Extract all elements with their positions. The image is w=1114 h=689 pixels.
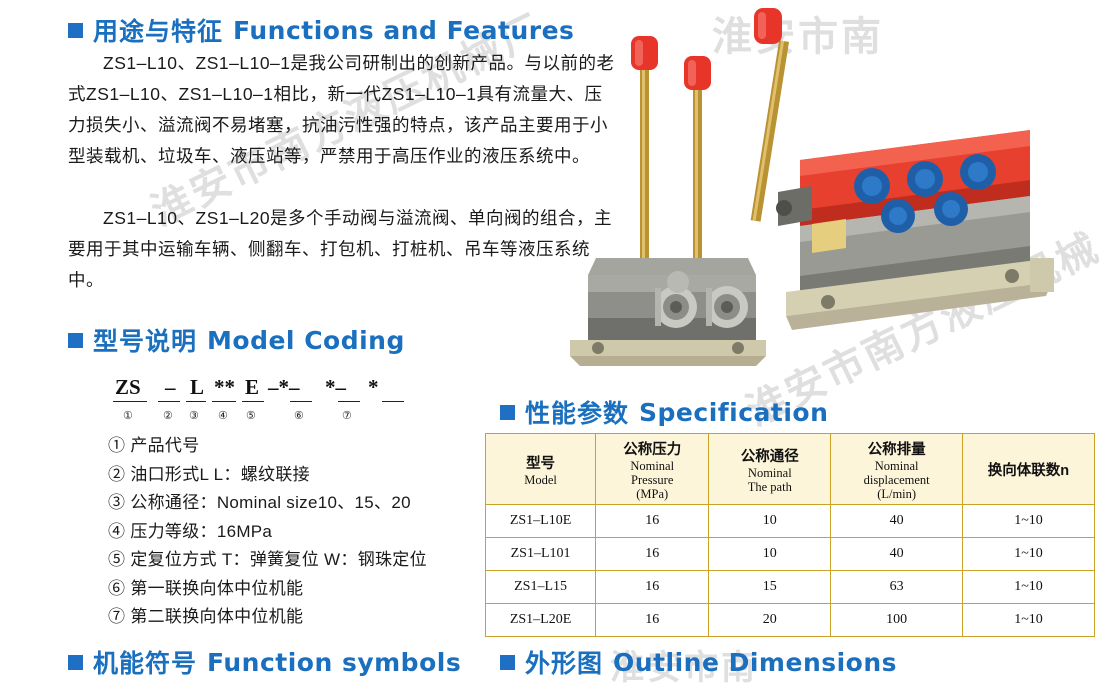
cell-pressure: 16 xyxy=(596,571,709,604)
cell-displacement: 100 xyxy=(831,604,963,637)
bullet-square-icon xyxy=(500,655,515,670)
valve-block-right xyxy=(751,8,1054,330)
table-row: ZS1–L10E 16 10 40 1~10 xyxy=(486,505,1095,538)
cell-path: 10 xyxy=(709,505,831,538)
coding-token-4: ** xyxy=(214,375,235,400)
bullet-square-icon xyxy=(68,655,83,670)
model-coding-indices: ① ② ③ ④ ⑤ ⑥ ⑦ xyxy=(110,405,490,421)
section-heading-outline: 外形图 Outline Dimensions xyxy=(500,644,897,680)
coding-index-6: ⑥ xyxy=(294,409,304,422)
coding-underline-7 xyxy=(338,401,360,402)
cell-sections: 1~10 xyxy=(962,538,1094,571)
coding-token-7: *– xyxy=(325,375,346,400)
section-function-symbols-en: Function symbols xyxy=(207,648,461,677)
table-row: ZS1–L20E 16 20 100 1~10 xyxy=(486,604,1095,637)
cell-sections: 1~10 xyxy=(962,571,1094,604)
coding-index-1: ① xyxy=(123,409,133,422)
column-header-path-en1: Nominal xyxy=(713,466,826,480)
section-outline-en: Outline Dimensions xyxy=(613,648,897,677)
paragraph-2-wrapper: ZS1–L10、ZS1–L20是多个手动阀与溢流阀、单向阀的组合，主要用于其中运… xyxy=(68,203,616,296)
coding-token-6: –*– xyxy=(268,375,300,400)
cell-path: 15 xyxy=(709,571,831,604)
coding-underline-1 xyxy=(113,401,147,402)
column-header-pressure: 公称压力 Nominal Pressure (MPa) xyxy=(596,434,709,505)
coding-token-8: * xyxy=(368,375,379,400)
legend-item-4: ④ 压力等级：16MPa xyxy=(108,518,427,547)
specification-table: 型号 Model 公称压力 Nominal Pressure (MPa) 公称通… xyxy=(485,433,1095,637)
coding-index-2: ② xyxy=(163,409,173,422)
cell-displacement: 63 xyxy=(831,571,963,604)
bullet-square-icon xyxy=(500,405,515,420)
legend-item-3: ③ 公称通径：Nominal size10、15、20 xyxy=(108,489,427,518)
cell-pressure: 16 xyxy=(596,604,709,637)
coding-underline-6 xyxy=(290,401,312,402)
model-coding-legend: ① 产品代号 ② 油口形式L L：螺纹联接 ③ 公称通径：Nominal siz… xyxy=(108,432,427,632)
table-header: 型号 Model 公称压力 Nominal Pressure (MPa) 公称通… xyxy=(486,434,1095,505)
column-header-model-en: Model xyxy=(490,473,591,487)
coding-underline-4 xyxy=(212,401,236,402)
coding-token-5: E xyxy=(245,375,259,400)
valve-block-left xyxy=(570,36,766,366)
column-header-pressure-en1: Nominal xyxy=(600,459,704,473)
column-header-displacement-en2: displacement xyxy=(835,473,958,487)
column-header-path-cn: 公称通径 xyxy=(713,445,826,466)
coding-token-1: ZS xyxy=(115,375,141,400)
model-coding-tokens: ZS – L ** E –*– *– * xyxy=(110,375,490,405)
cell-path: 20 xyxy=(709,604,831,637)
column-header-pressure-en3: (MPa) xyxy=(600,487,704,501)
bullet-square-icon xyxy=(68,333,83,348)
column-header-sections: 换向体联数n xyxy=(962,434,1094,505)
section-heading-model-coding: 型号说明 Model Coding xyxy=(68,322,405,358)
model-coding-diagram: ZS – L ** E –*– *– * ① ② ③ ④ ⑤ ⑥ ⑦ xyxy=(110,375,490,421)
bullet-square-icon xyxy=(68,23,83,38)
legend-item-7: ⑦ 第二联换向体中位机能 xyxy=(108,603,427,632)
table-row: ZS1–L101 16 10 40 1~10 xyxy=(486,538,1095,571)
column-header-model: 型号 Model xyxy=(486,434,596,505)
coding-underline-2 xyxy=(158,401,180,402)
product-photo xyxy=(560,0,1114,400)
cell-displacement: 40 xyxy=(831,505,963,538)
table-body: ZS1–L10E 16 10 40 1~10 ZS1–L101 16 10 40… xyxy=(486,505,1095,637)
column-header-pressure-en2: Pressure xyxy=(600,473,704,487)
cell-model: ZS1–L15 xyxy=(486,571,596,604)
section-specification-en: Specification xyxy=(639,398,828,427)
legend-item-1: ① 产品代号 xyxy=(108,432,427,461)
column-header-displacement-en1: Nominal xyxy=(835,459,958,473)
coding-underline-3 xyxy=(186,401,206,402)
cell-pressure: 16 xyxy=(596,505,709,538)
coding-index-7: ⑦ xyxy=(342,409,352,422)
paragraph-1-wrapper: ZS1–L10、ZS1–L10–1是我公司研制出的创新产品。与以前的老式ZS1–… xyxy=(68,48,616,172)
column-header-displacement-cn: 公称排量 xyxy=(835,438,958,459)
column-header-sections-cn: 换向体联数n xyxy=(967,459,1090,480)
paragraph-2: ZS1–L10、ZS1–L20是多个手动阀与溢流阀、单向阀的组合，主要用于其中运… xyxy=(68,203,616,296)
column-header-path-en2: The path xyxy=(713,480,826,494)
section-functions-en: Functions and Features xyxy=(233,16,574,45)
coding-index-5: ⑤ xyxy=(246,409,256,422)
cell-pressure: 16 xyxy=(596,538,709,571)
section-model-coding-en: Model Coding xyxy=(207,326,405,355)
coding-underline-5 xyxy=(242,401,264,402)
cell-sections: 1~10 xyxy=(962,505,1094,538)
legend-item-6: ⑥ 第一联换向体中位机能 xyxy=(108,575,427,604)
table-row: ZS1–L15 16 15 63 1~10 xyxy=(486,571,1095,604)
section-outline-cn: 外形图 xyxy=(525,644,603,680)
coding-index-3: ③ xyxy=(189,409,199,422)
section-heading-function-symbols: 机能符号 Function symbols xyxy=(68,644,461,680)
cell-model: ZS1–L101 xyxy=(486,538,596,571)
cell-displacement: 40 xyxy=(831,538,963,571)
cell-sections: 1~10 xyxy=(962,604,1094,637)
cell-path: 10 xyxy=(709,538,831,571)
coding-underline-8 xyxy=(382,401,404,402)
coding-index-4: ④ xyxy=(218,409,228,422)
paragraph-1: ZS1–L10、ZS1–L10–1是我公司研制出的创新产品。与以前的老式ZS1–… xyxy=(68,48,616,172)
coding-token-2: – xyxy=(165,375,176,400)
section-function-symbols-cn: 机能符号 xyxy=(93,644,197,680)
column-header-displacement: 公称排量 Nominal displacement (L/min) xyxy=(831,434,963,505)
column-header-model-cn: 型号 xyxy=(490,452,591,473)
catalog-page: 淮安市南 淮安市南方液压机械厂 淮安市南方液压机械 淮安市南 用途与特征 Fun… xyxy=(0,0,1114,687)
legend-item-5: ⑤ 定复位方式 T：弹簧复位 W：钢珠定位 xyxy=(108,546,427,575)
coding-token-3: L xyxy=(190,375,204,400)
cell-model: ZS1–L10E xyxy=(486,505,596,538)
column-header-displacement-en3: (L/min) xyxy=(835,487,958,501)
legend-item-2: ② 油口形式L L：螺纹联接 xyxy=(108,461,427,490)
column-header-path: 公称通径 Nominal The path xyxy=(709,434,831,505)
cell-model: ZS1–L20E xyxy=(486,604,596,637)
section-heading-functions: 用途与特征 Functions and Features xyxy=(68,12,574,48)
column-header-pressure-cn: 公称压力 xyxy=(600,438,704,459)
section-model-coding-cn: 型号说明 xyxy=(93,322,197,358)
section-functions-cn: 用途与特征 xyxy=(93,12,223,48)
table-header-row: 型号 Model 公称压力 Nominal Pressure (MPa) 公称通… xyxy=(486,434,1095,505)
